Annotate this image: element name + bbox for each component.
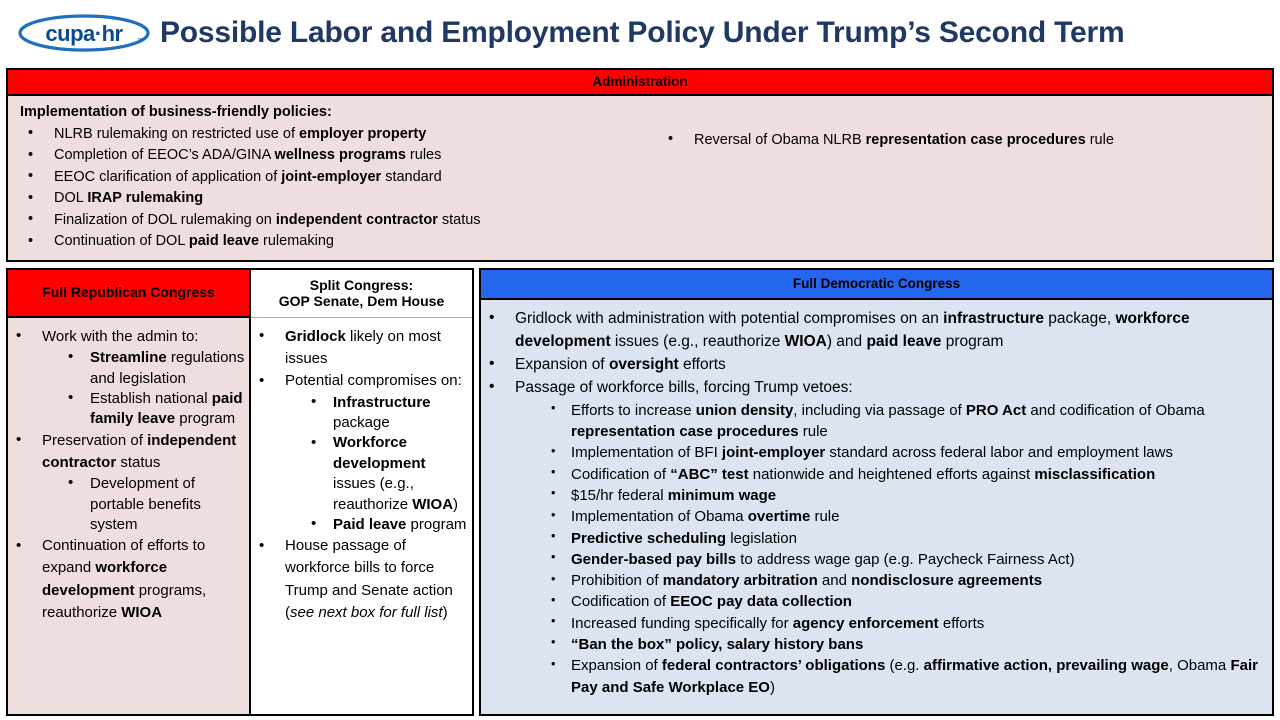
sub-list-item: Implementation of Obama overtime rule	[541, 506, 1270, 527]
administration-left-column: Implementation of business-friendly poli…	[12, 102, 640, 254]
sub-list: Infrastructure packageWorkforce developm…	[303, 393, 470, 536]
list-item: NLRB rulemaking on restricted use of emp…	[20, 124, 640, 145]
full-republican-congress-column: Full Republican Congress Work with the a…	[6, 268, 251, 716]
split-list: Gridlock likely on most issuesPotential …	[251, 326, 470, 624]
title-bar: cupa·hr ™ Possible Labor and Employment …	[0, 0, 1280, 66]
svg-text:™: ™	[137, 37, 143, 44]
sub-list-item: Workforce development issues (e.g., reau…	[303, 433, 470, 515]
list-item: EEOC clarification of application of joi…	[20, 167, 640, 188]
list-item: House passage of workforce bills to forc…	[251, 535, 470, 624]
sub-list-item: Codification of EEOC pay data collection	[541, 591, 1270, 612]
administration-left-list: NLRB rulemaking on restricted use of emp…	[20, 124, 640, 253]
sub-list-item: Infrastructure package	[303, 393, 470, 434]
cupa-hr-logo-icon: cupa·hr ™	[14, 9, 154, 57]
split-congress-column: Split Congress: GOP Senate, Dem House Gr…	[251, 268, 474, 716]
list-item: Reversal of Obama NLRB representation ca…	[660, 130, 1268, 151]
congress-scenarios-row: Full Republican Congress Work with the a…	[6, 268, 1274, 716]
list-item: DOL IRAP rulemaking	[20, 188, 640, 209]
list-item: Completion of EEOC’s ADA/GINA wellness p…	[20, 145, 640, 166]
sub-list-item: Gender-based pay bills to address wage g…	[541, 549, 1270, 570]
sub-list-item: Prohibition of mandatory arbitration and…	[541, 570, 1270, 591]
page-title: Possible Labor and Employment Policy Und…	[160, 16, 1124, 50]
sub-list: Development of portable benefits system	[60, 474, 247, 535]
list-item: Gridlock with administration with potent…	[481, 308, 1270, 354]
full-republican-congress-header: Full Republican Congress	[8, 270, 249, 318]
sub-list-item: Increased funding specifically for agenc…	[541, 613, 1270, 634]
split-congress-header-line2: GOP Senate, Dem House	[279, 294, 444, 310]
administration-lead: Implementation of business-friendly poli…	[20, 102, 640, 123]
sub-list-item: $15/hr federal minimum wage	[541, 485, 1270, 506]
sub-list-item: Codification of “ABC” test nationwide an…	[541, 464, 1270, 485]
list-item: Finalization of DOL rulemaking on indepe…	[20, 210, 640, 231]
sub-list-item: Paid leave program	[303, 515, 470, 535]
list-item: Continuation of efforts to expand workfo…	[8, 535, 247, 624]
sub-list-item: “Ban the box” policy, salary history ban…	[541, 634, 1270, 655]
list-item: Work with the admin to:Streamline regula…	[8, 326, 247, 430]
list-item: Potential compromises on:Infrastructure …	[251, 370, 470, 535]
republican-list: Work with the admin to:Streamline regula…	[8, 326, 247, 624]
administration-body: Implementation of business-friendly poli…	[8, 96, 1272, 258]
split-congress-header-line1: Split Congress:	[279, 278, 444, 294]
sub-list-item: Expansion of federal contractors’ obliga…	[541, 655, 1270, 698]
full-republican-congress-body: Work with the admin to:Streamline regula…	[8, 318, 249, 714]
list-item: Gridlock likely on most issues	[251, 326, 470, 370]
sub-list-item: Predictive scheduling legislation	[541, 528, 1270, 549]
sub-list-item: Establish national paid family leave pro…	[60, 389, 247, 430]
svg-text:cupa·hr: cupa·hr	[45, 21, 123, 46]
list-item: Continuation of DOL paid leave rulemakin…	[20, 231, 640, 252]
list-item: Passage of workforce bills, forcing Trum…	[481, 377, 1270, 698]
administration-header: Administration	[8, 70, 1272, 96]
full-democratic-congress-column: Full Democratic Congress Gridlock with a…	[479, 268, 1274, 716]
full-democratic-congress-body: Gridlock with administration with potent…	[481, 300, 1272, 714]
sub-list-item: Development of portable benefits system	[60, 474, 247, 535]
sub-list: Streamline regulations and legislationEs…	[60, 348, 247, 430]
sub-list-item: Efforts to increase union density, inclu…	[541, 400, 1270, 443]
full-democratic-congress-header: Full Democratic Congress	[481, 270, 1272, 300]
administration-right-column: Reversal of Obama NLRB representation ca…	[640, 102, 1268, 254]
sub-list: Efforts to increase union density, inclu…	[541, 400, 1270, 698]
list-item: Preservation of independent contractor s…	[8, 430, 247, 536]
administration-right-list: Reversal of Obama NLRB representation ca…	[660, 130, 1268, 151]
administration-section: Administration Implementation of busines…	[6, 68, 1274, 262]
democrat-list: Gridlock with administration with potent…	[481, 308, 1270, 698]
sub-list-item: Streamline regulations and legislation	[60, 348, 247, 389]
split-congress-header: Split Congress: GOP Senate, Dem House	[251, 270, 472, 318]
sub-list-item: Implementation of BFI joint-employer sta…	[541, 442, 1270, 463]
split-congress-body: Gridlock likely on most issuesPotential …	[251, 318, 472, 714]
list-item: Expansion of oversight efforts	[481, 354, 1270, 377]
slide-root: cupa·hr ™ Possible Labor and Employment …	[0, 0, 1280, 720]
